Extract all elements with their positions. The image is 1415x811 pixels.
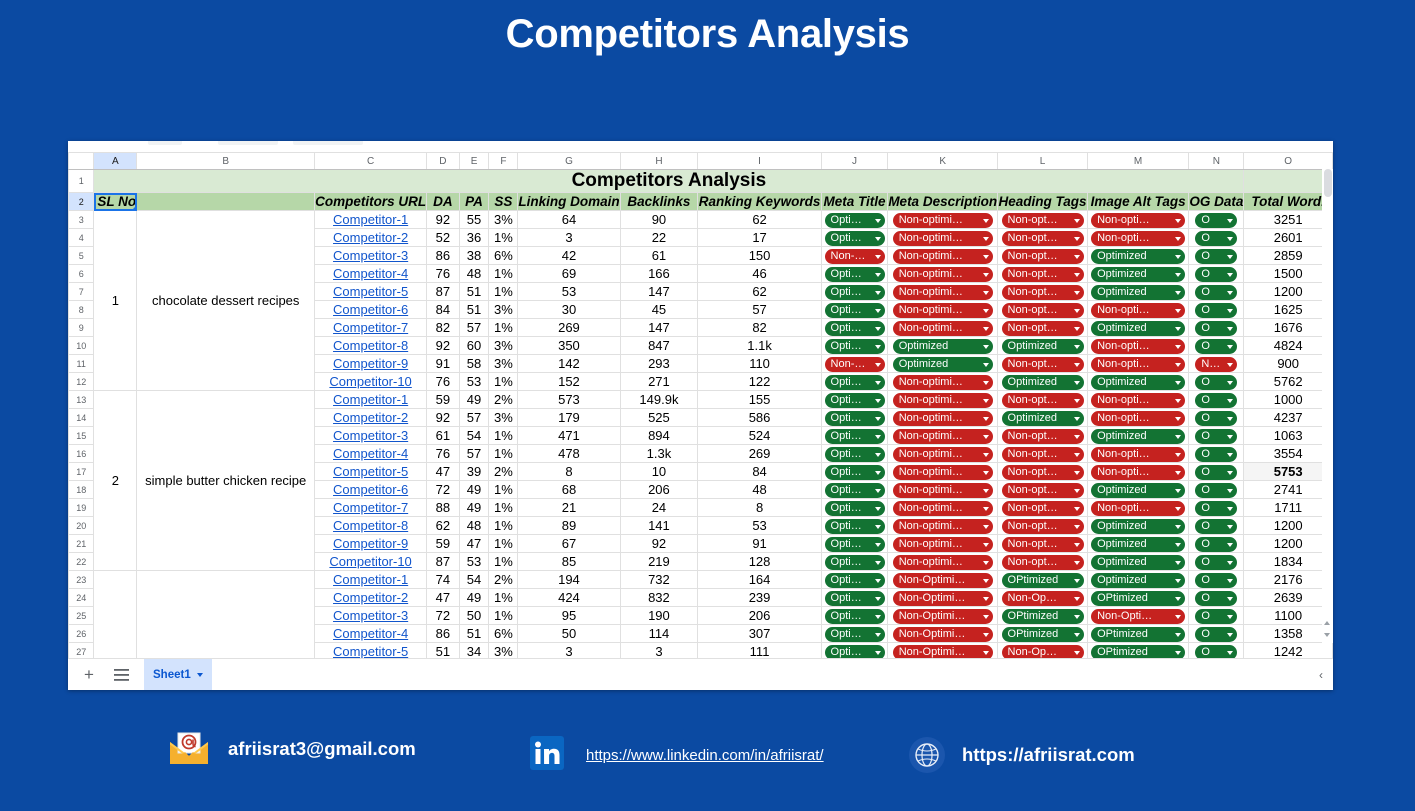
chevron-down-icon[interactable] [875,543,881,547]
status-chip[interactable]: Non-optimi… [893,267,993,282]
chevron-down-icon[interactable] [1227,417,1233,421]
chevron-down-icon[interactable] [983,651,989,655]
competitor-url-link[interactable]: Competitor-7 [333,320,408,335]
chevron-down-icon[interactable] [1074,273,1080,277]
metric-cell-bl[interactable]: 293 [620,355,698,373]
column-header-cell[interactable] [137,193,315,211]
status-chip[interactable]: Opti… [825,429,885,444]
metric-cell-da[interactable]: 88 [427,499,459,517]
metric-cell-ss[interactable]: 6% [489,247,518,265]
metric-cell-bl[interactable]: 894 [620,427,698,445]
metric-cell-bl[interactable]: 1.3k [620,445,698,463]
metric-cell-bl[interactable]: 732 [620,571,698,589]
chevron-down-icon[interactable] [875,507,881,511]
row-header-25[interactable]: 25 [69,607,94,625]
status-chip[interactable]: Non-opt… [1002,249,1084,264]
metric-cell-rk[interactable]: 1.1k [698,337,822,355]
column-header-cell[interactable]: Meta Description [888,193,998,211]
status-chip[interactable]: Non-opt… [1002,501,1084,516]
metric-cell-rk[interactable]: 586 [698,409,822,427]
total-words-cell[interactable]: 2176 [1244,571,1333,589]
row-header-16[interactable]: 16 [69,445,94,463]
chevron-down-icon[interactable] [1227,597,1233,601]
chevron-down-icon[interactable] [875,633,881,637]
keyword-cell[interactable]: simple butter chicken recipe [137,391,315,571]
status-chip[interactable]: Non-opt… [1002,465,1084,480]
chevron-down-icon[interactable] [875,291,881,295]
status-chip[interactable]: Opti… [825,501,885,516]
chevron-down-icon[interactable] [1074,363,1080,367]
metric-cell-pa[interactable]: 53 [459,553,489,571]
chevron-down-icon[interactable] [1175,291,1181,295]
metric-cell-rk[interactable]: 128 [698,553,822,571]
sheet-title-cell[interactable]: Competitors Analysis [94,170,1244,193]
competitor-url-link[interactable]: Competitor-3 [333,608,408,623]
metric-cell-rk[interactable]: 17 [698,229,822,247]
chevron-down-icon[interactable] [1227,255,1233,259]
status-chip[interactable]: O [1195,537,1237,552]
metric-cell-rk[interactable]: 62 [698,211,822,229]
chevron-down-icon[interactable] [1227,561,1233,565]
chevron-down-icon[interactable] [1074,543,1080,547]
metric-cell-pa[interactable]: 54 [459,427,489,445]
metric-cell-ld[interactable]: 3 [518,643,620,660]
total-words-cell[interactable]: 3554 [1244,445,1333,463]
chevron-down-icon[interactable] [983,399,989,403]
metric-cell-da[interactable]: 91 [427,355,459,373]
metric-cell-bl[interactable]: 114 [620,625,698,643]
metric-cell-da[interactable]: 59 [427,535,459,553]
metric-cell-ss[interactable]: 3% [489,355,518,373]
status-chip[interactable]: Non-Optimi… [893,609,993,624]
metric-cell-ss[interactable]: 2% [489,391,518,409]
competitor-url-link[interactable]: Competitor-5 [333,284,408,299]
column-header-cell[interactable]: Competitors URL [315,193,427,211]
status-chip[interactable]: N… [1195,357,1237,372]
metric-cell-da[interactable]: 92 [427,337,459,355]
total-words-cell[interactable]: 1000 [1244,391,1333,409]
scroll-down-icon[interactable] [1324,633,1330,637]
chevron-down-icon[interactable] [1175,399,1181,403]
status-chip[interactable]: Non-optimi… [893,231,993,246]
status-chip[interactable]: OPtimized [1091,645,1185,659]
column-header-k[interactable]: K [888,153,998,170]
status-chip[interactable]: OPtimized [1091,627,1185,642]
metric-cell-ld[interactable]: 471 [518,427,620,445]
status-chip[interactable]: OPtimized [1091,591,1185,606]
chevron-down-icon[interactable] [875,561,881,565]
status-chip[interactable]: Non-opt… [1002,555,1084,570]
chevron-down-icon[interactable] [1227,291,1233,295]
chevron-down-icon[interactable] [1227,327,1233,331]
chevron-down-icon[interactable] [1175,651,1181,655]
status-chip[interactable]: Non-optimi… [893,519,993,534]
chevron-down-icon[interactable] [1074,417,1080,421]
status-chip[interactable]: Non-opt… [1002,321,1084,336]
metric-cell-bl[interactable]: 92 [620,535,698,553]
chevron-down-icon[interactable] [875,525,881,529]
row-header-17[interactable]: 17 [69,463,94,481]
column-header-cell[interactable]: Backlinks [620,193,698,211]
chevron-down-icon[interactable] [1227,381,1233,385]
metric-cell-pa[interactable]: 49 [459,481,489,499]
status-chip[interactable]: O [1195,627,1237,642]
competitor-url-link[interactable]: Competitor-9 [333,536,408,551]
total-words-cell[interactable]: 1242 [1244,643,1333,660]
metric-cell-ld[interactable]: 53 [518,283,620,301]
total-words-cell[interactable]: 1676 [1244,319,1333,337]
metric-cell-ss[interactable]: 1% [489,373,518,391]
metric-cell-ld[interactable]: 89 [518,517,620,535]
metric-cell-da[interactable]: 72 [427,607,459,625]
metric-cell-ss[interactable]: 2% [489,571,518,589]
metric-cell-ss[interactable]: 3% [489,211,518,229]
footer-linkedin-item[interactable]: https://www.linkedin.com/in/afriisrat/ [530,736,824,774]
metric-cell-pa[interactable]: 57 [459,409,489,427]
metric-cell-bl[interactable]: 147 [620,319,698,337]
metric-cell-pa[interactable]: 48 [459,517,489,535]
chevron-down-icon[interactable] [1175,543,1181,547]
competitor-url-link[interactable]: Competitor-4 [333,446,408,461]
metric-cell-bl[interactable]: 22 [620,229,698,247]
status-chip[interactable]: Non-opt… [1002,393,1084,408]
column-header-cell[interactable]: SL No [94,193,137,211]
chevron-down-icon[interactable] [983,363,989,367]
status-chip[interactable]: Non-optimi… [893,555,993,570]
metric-cell-rk[interactable]: 122 [698,373,822,391]
chevron-down-icon[interactable] [983,579,989,583]
column-header-cell[interactable]: OG Data [1189,193,1244,211]
chevron-down-icon[interactable] [983,561,989,565]
metric-cell-rk[interactable]: 46 [698,265,822,283]
status-chip[interactable]: Non-optimi… [893,411,993,426]
metric-cell-bl[interactable]: 147 [620,283,698,301]
status-chip[interactable]: Non-Opti… [1091,609,1185,624]
metric-cell-pa[interactable]: 47 [459,535,489,553]
competitor-url-link[interactable]: Competitor-1 [333,212,408,227]
chevron-down-icon[interactable] [875,489,881,493]
chevron-down-icon[interactable] [983,525,989,529]
status-chip[interactable]: O [1195,483,1237,498]
metric-cell-pa[interactable]: 36 [459,229,489,247]
competitor-url-link[interactable]: Competitor-4 [333,626,408,641]
column-header-cell[interactable]: DA [427,193,459,211]
chevron-down-icon[interactable] [1074,561,1080,565]
metric-cell-bl[interactable]: 219 [620,553,698,571]
status-chip[interactable]: Optimized [1002,339,1084,354]
metric-cell-ld[interactable]: 350 [518,337,620,355]
status-chip[interactable]: Non-opti… [1091,411,1185,426]
status-chip[interactable]: O [1195,411,1237,426]
status-chip[interactable]: O [1195,429,1237,444]
metric-cell-pa[interactable]: 49 [459,391,489,409]
status-chip[interactable]: Non-Optimi… [893,591,993,606]
status-chip[interactable]: Non-opt… [1002,429,1084,444]
table-row[interactable]: 31chocolate dessert recipesCompetitor-19… [69,211,1333,229]
chevron-down-icon[interactable] [1175,363,1181,367]
metric-cell-da[interactable]: 86 [427,247,459,265]
column-header-c[interactable]: C [315,153,427,170]
metric-cell-bl[interactable]: 45 [620,301,698,319]
sheet-tab-sheet1[interactable]: Sheet1 [144,659,212,690]
column-header-cell[interactable]: Heading Tags [998,193,1088,211]
total-words-cell[interactable]: 1711 [1244,499,1333,517]
metric-cell-ss[interactable]: 6% [489,625,518,643]
chevron-down-icon[interactable] [1227,399,1233,403]
row-header-9[interactable]: 9 [69,319,94,337]
metric-cell-ld[interactable]: 85 [518,553,620,571]
total-words-cell[interactable]: 2741 [1244,481,1333,499]
chevron-down-icon[interactable] [983,435,989,439]
metric-cell-da[interactable]: 72 [427,481,459,499]
metric-cell-pa[interactable]: 49 [459,499,489,517]
metric-cell-rk[interactable]: 48 [698,481,822,499]
competitor-url-link[interactable]: Competitor-10 [329,554,411,569]
vertical-scrollbar[interactable] [1322,169,1333,643]
status-chip[interactable]: OPtimized [1002,627,1084,642]
status-chip[interactable]: Opti… [825,393,885,408]
chevron-down-icon[interactable] [1074,525,1080,529]
chevron-down-icon[interactable] [1074,651,1080,655]
chevron-down-icon[interactable] [1175,309,1181,313]
chevron-down-icon[interactable] [983,255,989,259]
scroll-up-icon[interactable] [1324,621,1330,625]
status-chip[interactable]: Opti… [825,321,885,336]
chevron-down-icon[interactable] [983,327,989,331]
metric-cell-ss[interactable]: 1% [489,427,518,445]
status-chip[interactable]: Non-opt… [1002,357,1084,372]
status-chip[interactable]: Opti… [825,285,885,300]
status-chip[interactable]: Optimized [893,357,993,372]
status-chip[interactable]: Non-optimi… [893,393,993,408]
metric-cell-ss[interactable]: 1% [489,481,518,499]
metric-cell-rk[interactable]: 57 [698,301,822,319]
metric-cell-da[interactable]: 51 [427,643,459,660]
total-words-cell[interactable]: 2639 [1244,589,1333,607]
chevron-down-icon[interactable] [875,327,881,331]
status-chip[interactable]: Non-opt… [1002,267,1084,282]
status-chip[interactable]: O [1195,249,1237,264]
chevron-down-icon[interactable] [875,579,881,583]
table-row[interactable]: 23Competitor-174542%194732164Opti…Non-Op… [69,571,1333,589]
metric-cell-ld[interactable]: 269 [518,319,620,337]
status-chip[interactable]: Opti… [825,555,885,570]
row-header-12[interactable]: 12 [69,373,94,391]
status-chip[interactable]: Non-… [825,249,885,264]
chevron-down-icon[interactable] [1175,507,1181,511]
chevron-down-icon[interactable] [1175,525,1181,529]
chevron-down-icon[interactable] [1227,507,1233,511]
metric-cell-pa[interactable]: 55 [459,211,489,229]
chevron-down-icon[interactable] [1227,633,1233,637]
competitor-url-link[interactable]: Competitor-10 [329,374,411,389]
status-chip[interactable]: Opti… [825,213,885,228]
status-chip[interactable]: O [1195,267,1237,282]
chevron-down-icon[interactable] [983,309,989,313]
metric-cell-ld[interactable]: 21 [518,499,620,517]
status-chip[interactable]: Non-opt… [1002,303,1084,318]
metric-cell-da[interactable]: 62 [427,517,459,535]
chevron-down-icon[interactable] [1074,345,1080,349]
total-words-cell[interactable]: 1063 [1244,427,1333,445]
competitor-url-link[interactable]: Competitor-7 [333,500,408,515]
column-header-l[interactable]: L [998,153,1088,170]
metric-cell-da[interactable]: 92 [427,211,459,229]
status-chip[interactable]: Non-opti… [1091,357,1185,372]
chevron-down-icon[interactable] [983,219,989,223]
status-chip[interactable]: Non-optimi… [893,465,993,480]
status-chip[interactable]: Non-opti… [1091,213,1185,228]
status-chip[interactable]: Opti… [825,465,885,480]
chevron-down-icon[interactable] [1175,615,1181,619]
metric-cell-rk[interactable]: 150 [698,247,822,265]
row-header-11[interactable]: 11 [69,355,94,373]
competitor-url-link[interactable]: Competitor-2 [333,410,408,425]
column-header-cell[interactable]: PA [459,193,489,211]
status-chip[interactable]: Opti… [825,339,885,354]
status-chip[interactable]: O [1195,447,1237,462]
metric-cell-ld[interactable]: 95 [518,607,620,625]
status-chip[interactable]: O [1195,375,1237,390]
status-chip[interactable]: O [1195,645,1237,659]
status-chip[interactable]: Optimized [893,339,993,354]
row-header-20[interactable]: 20 [69,517,94,535]
chevron-down-icon[interactable] [1227,525,1233,529]
row-header-26[interactable]: 26 [69,625,94,643]
chevron-down-icon[interactable] [1175,633,1181,637]
competitor-url-link[interactable]: Competitor-1 [333,572,408,587]
chevron-down-icon[interactable] [1175,417,1181,421]
status-chip[interactable]: Optimized [1091,555,1185,570]
metric-cell-da[interactable]: 47 [427,589,459,607]
column-header-d[interactable]: D [427,153,459,170]
row-header-18[interactable]: 18 [69,481,94,499]
chevron-down-icon[interactable] [875,615,881,619]
chevron-down-icon[interactable] [1175,327,1181,331]
status-chip[interactable]: O [1195,231,1237,246]
chevron-down-icon[interactable] [983,273,989,277]
status-chip[interactable]: O [1195,591,1237,606]
metric-cell-da[interactable]: 87 [427,553,459,571]
metric-cell-pa[interactable]: 58 [459,355,489,373]
status-chip[interactable]: Non-optimi… [893,375,993,390]
metric-cell-pa[interactable]: 49 [459,589,489,607]
chevron-down-icon[interactable] [1227,543,1233,547]
status-chip[interactable]: Optimized [1091,429,1185,444]
row-header-22[interactable]: 22 [69,553,94,571]
status-chip[interactable]: Non-Optimi… [893,627,993,642]
metric-cell-ss[interactable]: 1% [489,607,518,625]
status-chip[interactable]: Non-opt… [1002,213,1084,228]
chevron-down-icon[interactable] [983,489,989,493]
metric-cell-pa[interactable]: 51 [459,625,489,643]
metric-cell-da[interactable]: 92 [427,409,459,427]
status-chip[interactable]: Non-opt… [1002,537,1084,552]
metric-cell-da[interactable]: 76 [427,265,459,283]
chevron-down-icon[interactable] [875,219,881,223]
metric-cell-ld[interactable]: 3 [518,229,620,247]
metric-cell-ss[interactable]: 1% [489,319,518,337]
metric-cell-ss[interactable]: 2% [489,463,518,481]
chevron-down-icon[interactable] [1074,291,1080,295]
chevron-down-icon[interactable] [875,597,881,601]
metric-cell-pa[interactable]: 34 [459,643,489,660]
metric-cell-rk[interactable]: 269 [698,445,822,463]
chevron-down-icon[interactable] [983,417,989,421]
status-chip[interactable]: Non-opt… [1002,447,1084,462]
row-header-14[interactable]: 14 [69,409,94,427]
status-chip[interactable]: Opti… [825,609,885,624]
total-words-cell[interactable]: 1625 [1244,301,1333,319]
chevron-down-icon[interactable] [983,471,989,475]
metric-cell-da[interactable]: 87 [427,283,459,301]
chevron-down-icon[interactable] [875,399,881,403]
total-words-cell[interactable]: 1500 [1244,265,1333,283]
chevron-down-icon[interactable] [1074,633,1080,637]
metric-cell-ld[interactable]: 142 [518,355,620,373]
column-header-i[interactable]: I [698,153,822,170]
chevron-down-icon[interactable] [1074,435,1080,439]
chevron-down-icon[interactable] [983,597,989,601]
metric-cell-bl[interactable]: 190 [620,607,698,625]
metric-cell-ss[interactable]: 1% [489,535,518,553]
footer-website-item[interactable]: https://afriisrat.com [908,736,1135,774]
chevron-down-icon[interactable] [1074,219,1080,223]
chevron-down-icon[interactable] [875,273,881,277]
chevron-down-icon[interactable] [983,345,989,349]
metric-cell-da[interactable]: 74 [427,571,459,589]
chevron-down-icon[interactable] [1227,237,1233,241]
column-header-m[interactable]: M [1087,153,1188,170]
status-chip[interactable]: Non-optimi… [893,537,993,552]
chevron-down-icon[interactable] [1175,489,1181,493]
column-header-cell[interactable]: Image Alt Tags [1087,193,1188,211]
status-chip[interactable]: Opti… [825,537,885,552]
metric-cell-da[interactable]: 84 [427,301,459,319]
status-chip[interactable]: Opti… [825,591,885,606]
chevron-down-icon[interactable] [1175,255,1181,259]
row-header-8[interactable]: 8 [69,301,94,319]
competitor-url-link[interactable]: Competitor-5 [333,464,408,479]
metric-cell-bl[interactable]: 206 [620,481,698,499]
status-chip[interactable]: O [1195,339,1237,354]
metric-cell-rk[interactable]: 239 [698,589,822,607]
metric-cell-ld[interactable]: 424 [518,589,620,607]
status-chip[interactable]: Optimized [1091,519,1185,534]
status-chip[interactable]: Optimized [1002,411,1084,426]
competitor-url-link[interactable]: Competitor-1 [333,392,408,407]
status-chip[interactable]: O [1195,321,1237,336]
chevron-down-icon[interactable] [1074,615,1080,619]
competitor-url-link[interactable]: Competitor-2 [333,230,408,245]
chevron-down-icon[interactable] [1227,309,1233,313]
chevron-down-icon[interactable] [1227,453,1233,457]
chevron-down-icon[interactable] [1227,489,1233,493]
total-words-cell[interactable]: 1200 [1244,283,1333,301]
chevron-down-icon[interactable] [1227,651,1233,655]
row-header-21[interactable]: 21 [69,535,94,553]
metric-cell-ld[interactable]: 30 [518,301,620,319]
column-header-a[interactable]: A [94,153,137,170]
chevron-down-icon[interactable] [875,363,881,367]
status-chip[interactable]: O [1195,609,1237,624]
metric-cell-ss[interactable]: 1% [489,265,518,283]
status-chip[interactable]: Non-Optimi… [893,573,993,588]
status-chip[interactable]: O [1195,555,1237,570]
status-chip[interactable]: Optimized [1091,375,1185,390]
metric-cell-da[interactable]: 76 [427,445,459,463]
status-chip[interactable]: Non-opt… [1002,231,1084,246]
